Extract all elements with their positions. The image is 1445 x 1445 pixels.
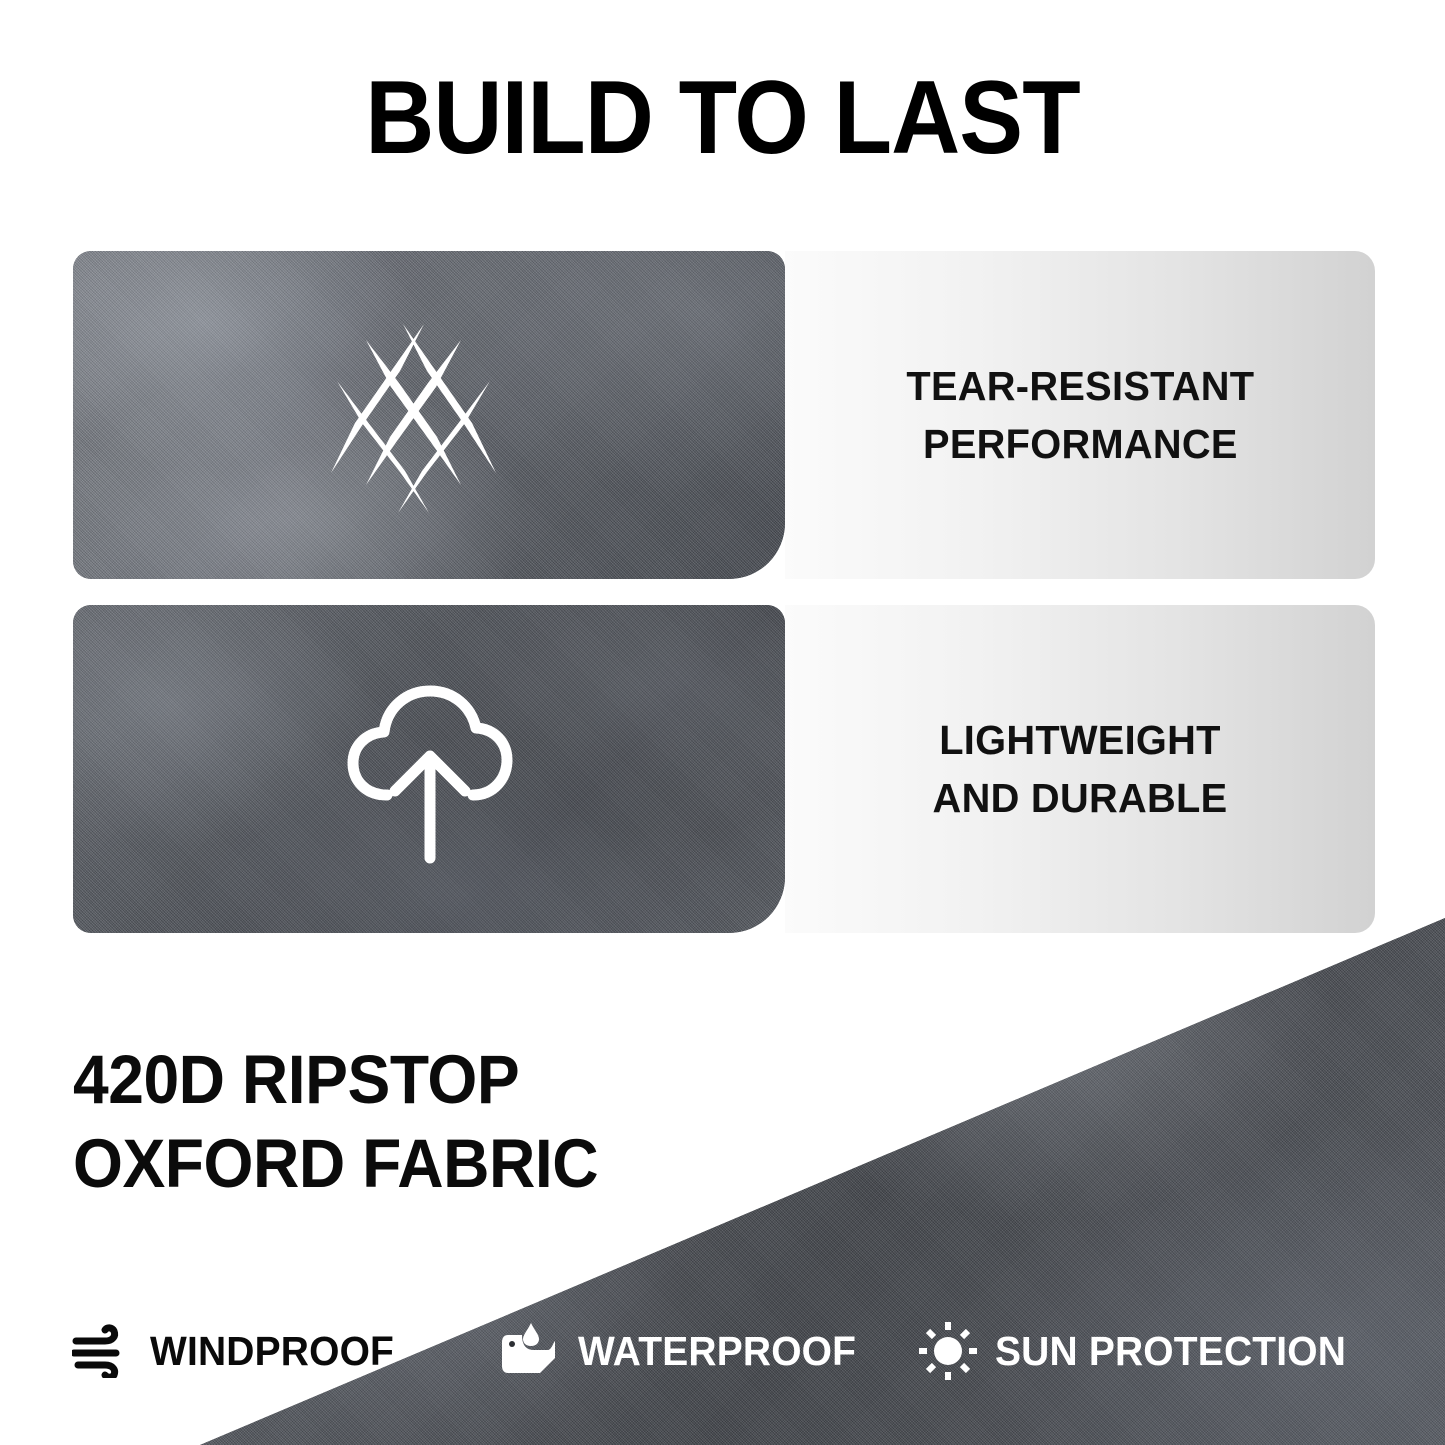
fabric-headline: 420D RIPSTOP OXFORD FABRIC [73, 1038, 761, 1206]
wind-icon [72, 1320, 134, 1382]
badge-label: SUN PROTECTION [995, 1329, 1346, 1373]
tear-claw-scratch-icon [324, 310, 534, 520]
feature-label: TEAR-RESISTANT PERFORMANCE [881, 357, 1279, 473]
sun-icon [917, 1320, 979, 1382]
badge-sun-protection: SUN PROTECTION [917, 1296, 1365, 1406]
feature-card: TEAR-RESISTANT PERFORMANCE [73, 251, 1375, 579]
cloud-upload-icon [324, 664, 534, 874]
feature-text-panel: LIGHTWEIGHT AND DURABLE [785, 605, 1375, 933]
feature-image-lightweight [73, 605, 785, 933]
badge-windproof: WINDPROOF [72, 1296, 407, 1406]
page-title: BUILD TO LAST [58, 62, 1387, 174]
badge-waterproof: WATERPROOF [500, 1296, 871, 1406]
badge-label: WATERPROOF [578, 1329, 856, 1373]
feature-label: LIGHTWEIGHT AND DURABLE [907, 711, 1252, 827]
feature-card: LIGHTWEIGHT AND DURABLE [73, 605, 1375, 933]
feature-image-tear-resistant [73, 251, 785, 579]
badge-row: WINDPROOF WATERPROOF [0, 1296, 1445, 1406]
badge-label: WINDPROOF [150, 1329, 394, 1373]
feature-text-panel: TEAR-RESISTANT PERFORMANCE [785, 251, 1375, 579]
infographic-page: BUILD TO LAST [0, 0, 1445, 1445]
water-droplet-fabric-icon [500, 1320, 562, 1382]
